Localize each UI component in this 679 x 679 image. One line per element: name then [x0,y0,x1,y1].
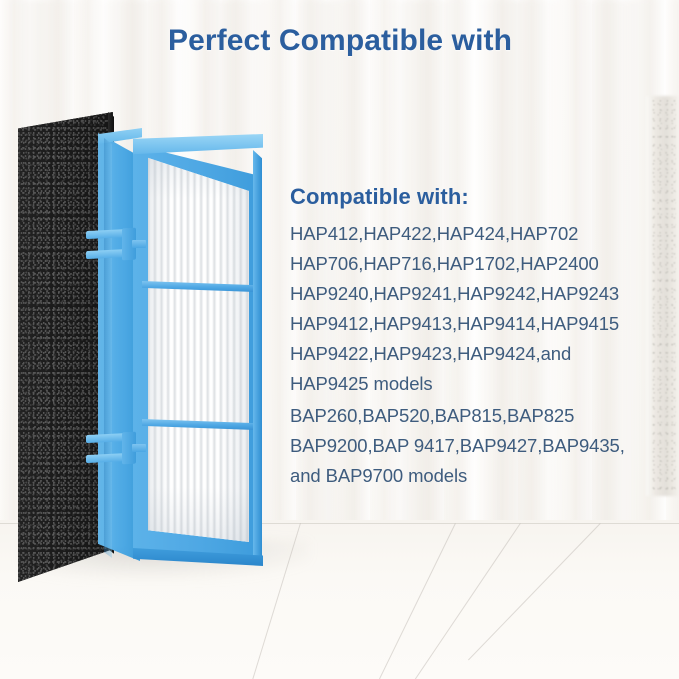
lower-clip-nub [132,444,146,452]
compatible-model-line: BAP9200,BAP 9417,BAP9427,BAP9435, [290,431,670,461]
upper-mounting-clip [86,228,142,262]
compatible-model-line: and BAP9700 models [290,461,670,491]
compatible-models-list: HAP412,HAP422,HAP424,HAP702 HAP706,HAP71… [290,219,670,491]
banner-title: Perfect Compatible with [168,24,512,58]
compatible-model-line: HAP9425 models [290,369,670,399]
compatible-model-line: HAP9240,HAP9241,HAP9242,HAP9243 [290,279,670,309]
hepa-pleat-vertical-shading [148,152,249,542]
filter-frame-right-edge [253,150,262,560]
lower-mounting-clip [86,432,142,466]
compatible-model-line: BAP260,BAP520,BAP815,BAP825 [290,401,670,431]
compatible-model-line: HAP706,HAP716,HAP1702,HAP2400 [290,249,670,279]
hepa-pleated-media-window [148,152,249,542]
compatible-with-heading: Compatible with: [290,184,469,210]
compatible-model-line: HAP9422,HAP9423,HAP9424,and [290,339,670,369]
compatible-model-line: HAP9412,HAP9413,HAP9414,HAP9415 [290,309,670,339]
upper-clip-nub [132,240,146,248]
compatible-model-line: HAP412,HAP422,HAP424,HAP702 [290,219,670,249]
filter-frame-side-groove [104,138,112,558]
product-image-canvas: Perfect Compatible with Compatible with:… [0,0,679,679]
